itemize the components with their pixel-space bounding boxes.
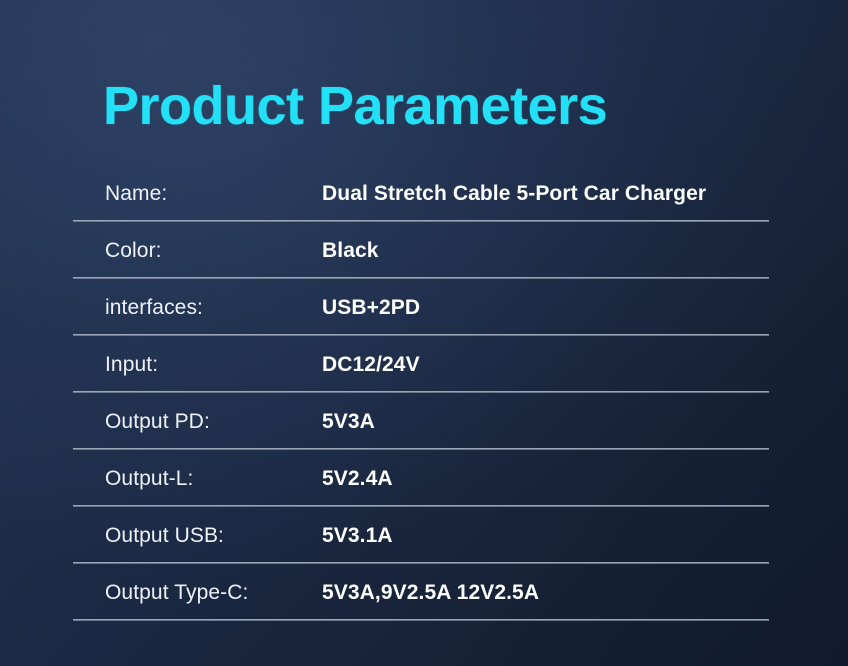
table-row: Output Type-C: 5V3A,9V2.5A 12V2.5A [0,564,848,621]
table-row: Name: Dual Stretch Cable 5-Port Car Char… [0,165,848,222]
spec-value: Dual Stretch Cable 5-Port Car Charger [322,182,706,206]
spec-label: Input: [105,353,158,377]
spec-label: interfaces: [105,296,203,320]
spec-value: USB+2PD [322,296,420,320]
spec-table: Name: Dual Stretch Cable 5-Port Car Char… [0,165,848,621]
spec-value: 5V3.1A [322,524,393,548]
table-row: Color: Black [0,222,848,279]
spec-value: Black [322,239,379,263]
table-row: interfaces: USB+2PD [0,279,848,336]
spec-label: Output-L: [105,467,193,491]
spec-value: 5V3A [322,410,375,434]
spec-value: DC12/24V [322,353,420,377]
table-row: Output USB: 5V3.1A [0,507,848,564]
spec-label: Name: [105,182,167,206]
table-row: Output PD: 5V3A [0,393,848,450]
spec-label: Output PD: [105,410,210,434]
spec-label: Output USB: [105,524,224,548]
spec-label: Color: [105,239,162,263]
page-title: Product Parameters [103,74,607,138]
spec-label: Output Type-C: [105,581,248,605]
row-divider [73,619,769,621]
spec-value: 5V2.4A [322,467,393,491]
spec-value: 5V3A,9V2.5A 12V2.5A [322,581,539,605]
table-row: Output-L: 5V2.4A [0,450,848,507]
table-row: Input: DC12/24V [0,336,848,393]
product-parameters-card: Product Parameters Name: Dual Stretch Ca… [0,0,848,666]
